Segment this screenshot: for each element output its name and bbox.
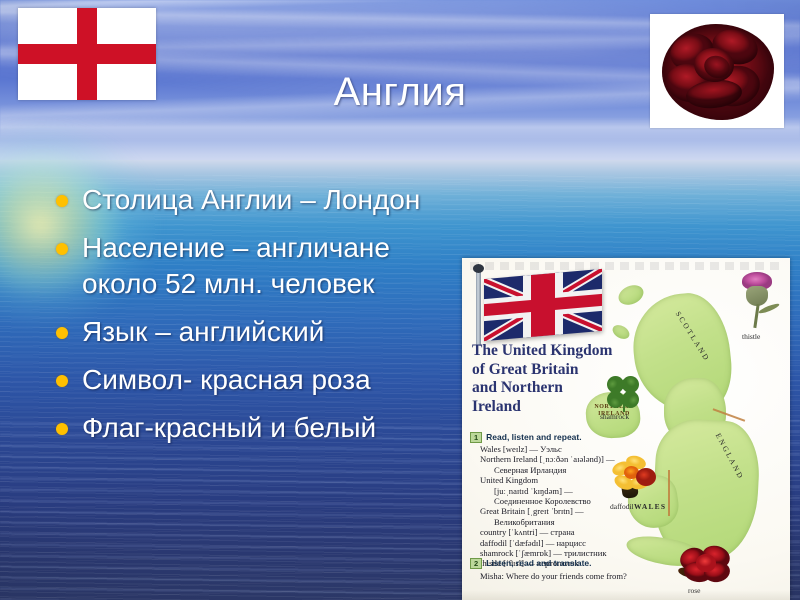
map-island xyxy=(610,322,632,341)
list-item: Язык – английский xyxy=(50,314,470,350)
list-item-text: Язык – английский xyxy=(82,316,324,347)
page-title: Англия xyxy=(170,68,630,116)
list-item: Символ- красная роза xyxy=(50,362,470,398)
flagpole xyxy=(476,268,481,346)
bullet-dot-icon xyxy=(56,423,68,435)
map-border-line xyxy=(668,470,670,516)
presentation-slide: Англия Столица Англии – Лондон Население… xyxy=(0,0,800,600)
list-item-text: Население – англичане xyxy=(82,232,390,263)
list-item: Столица Англии – Лондон xyxy=(50,182,470,218)
task-number-badge: 2 xyxy=(470,558,482,569)
list-item-text: Флаг-красный и белый xyxy=(82,412,376,443)
bullet-dot-icon xyxy=(56,243,68,255)
task-number-badge: 1 xyxy=(470,432,482,443)
daffodil-icon xyxy=(612,456,662,500)
caption-shamrock: shamrock xyxy=(600,412,629,421)
list-item: Население – англичане около 52 млн. чело… xyxy=(50,230,470,302)
list-item-text-line2: около 52 млн. человек xyxy=(82,266,470,302)
map-label-wales: WALES xyxy=(634,502,666,511)
bullet-dot-icon xyxy=(56,375,68,387)
rose-photo xyxy=(650,14,784,128)
list-item-text: Символ- красная роза xyxy=(82,364,371,395)
bullet-dot-icon xyxy=(56,327,68,339)
task-instruction-text: Listen, read and translate. xyxy=(486,558,591,568)
task-1-instruction: 1Read, listen and repeat. xyxy=(470,432,582,443)
flagpole-finial xyxy=(473,264,484,273)
book-bottom-fade xyxy=(462,590,790,600)
list-item: Флаг-красный и белый xyxy=(50,410,470,446)
task-2-instruction: 2Listen, read and translate. xyxy=(470,558,592,569)
thistle-icon xyxy=(734,272,782,330)
england-flag-image xyxy=(18,8,156,100)
book-top-ghost-text xyxy=(470,262,782,270)
task-instruction-text: Read, listen and repeat. xyxy=(486,432,581,442)
map-island xyxy=(615,281,646,308)
list-item-text: Столица Англии – Лондон xyxy=(82,184,420,215)
caption-thistle: thistle xyxy=(742,332,760,341)
bullet-dot-icon xyxy=(56,195,68,207)
british-isles-map: SCOTLAND ENGLAND WALES NORTHERN IRELAND … xyxy=(582,270,790,600)
flag-cross-vertical xyxy=(77,8,97,100)
textbook-page-image: The United Kingdom of Great Britain and … xyxy=(462,258,790,600)
shamrock-icon xyxy=(604,374,644,412)
rose-icon xyxy=(678,538,732,586)
caption-daffodil: daffodil xyxy=(610,502,634,511)
bullet-list: Столица Англии – Лондон Население – англ… xyxy=(50,182,470,458)
